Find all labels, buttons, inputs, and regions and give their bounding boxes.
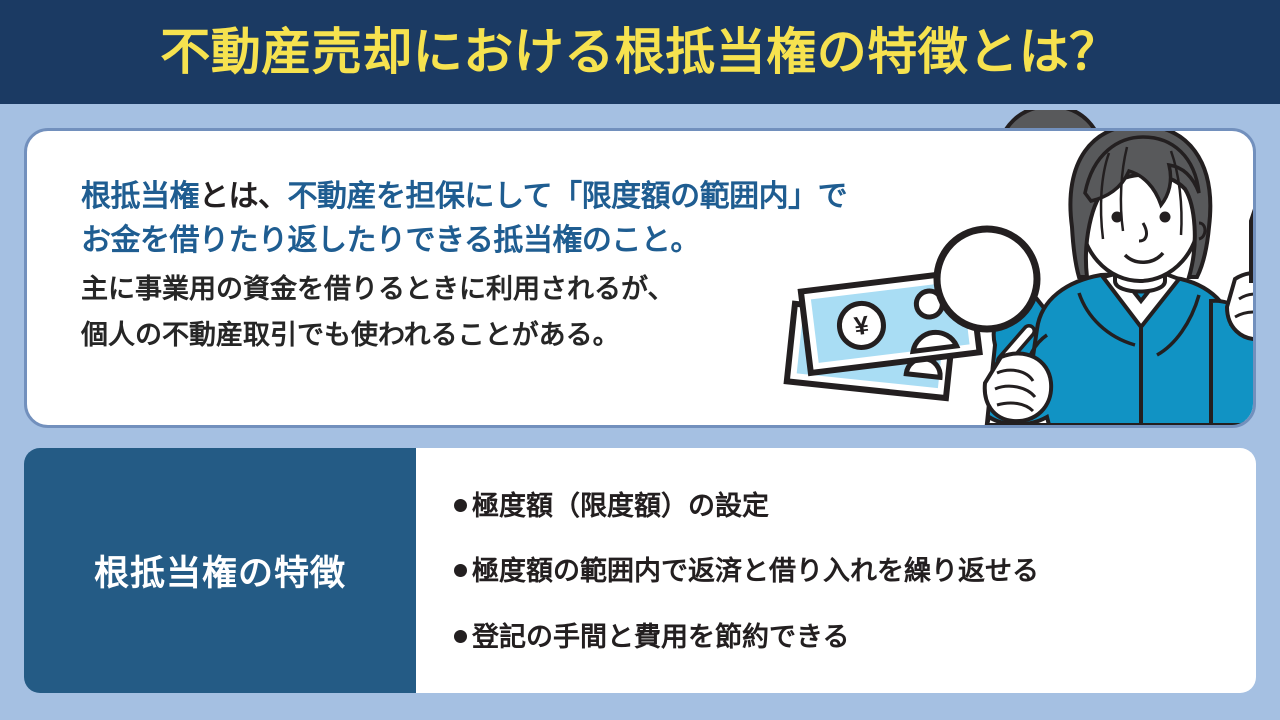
list-item-label: 極度額（限度額）の設定 bbox=[472, 490, 769, 522]
magnifier-icon bbox=[937, 229, 1037, 361]
features-list-panel: 極度額（限度額）の設定 極度額の範囲内で返済と借り入れを繰り返せる 登記の手間と… bbox=[416, 448, 1256, 693]
features-label-text: 根抵当権の特徴 bbox=[94, 545, 346, 596]
definition-term: 根抵当権 bbox=[81, 180, 199, 213]
header-bar: 不動産売却における根抵当権の特徴とは？ bbox=[0, 0, 1280, 104]
bullet-dot-icon bbox=[454, 499, 467, 512]
bullet-dot-icon bbox=[454, 564, 467, 577]
definition-line-1: 根抵当権とは、不動産を担保にして「限度額の範囲内」で bbox=[81, 175, 821, 219]
infographic-root: 不動産売却における根抵当権の特徴とは？ bbox=[0, 0, 1280, 720]
left-hand-icon bbox=[985, 353, 1051, 425]
list-item-label: 登記の手間と費用を節約できる bbox=[472, 621, 849, 653]
definition-card: ¥ bbox=[24, 128, 1256, 428]
svg-text:¥: ¥ bbox=[852, 310, 871, 342]
definition-line-3: 主に事業用の資金を借りるときに利用されるが、 bbox=[81, 270, 821, 309]
definition-connector: とは、 bbox=[199, 180, 288, 213]
page-title: 不動産売却における根抵当権の特徴とは？ bbox=[160, 27, 1120, 77]
right-arm-pointing-icon bbox=[1211, 204, 1253, 425]
definition-line-1-rest: 不動産を担保にして「限度額の範囲内」で bbox=[288, 180, 848, 213]
list-item-label: 極度額の範囲内で返済と借り入れを繰り返せる bbox=[472, 555, 1039, 587]
list-item: 極度額（限度額）の設定 bbox=[454, 490, 1256, 522]
definition-line-2: お金を借りたり返したりできる抵当権のこと。 bbox=[81, 219, 821, 263]
definition-text-block: 根抵当権とは、不動産を担保にして「限度額の範囲内」で お金を借りたり返したりでき… bbox=[81, 175, 821, 355]
features-label-panel: 根抵当権の特徴 bbox=[24, 448, 416, 693]
definition-line-4: 個人の不動産取引でも使われることがある。 bbox=[81, 316, 821, 355]
features-section: 根抵当権の特徴 極度額（限度額）の設定 極度額の範囲内で返済と借り入れを繰り返せ… bbox=[24, 448, 1256, 693]
bullet-dot-icon bbox=[454, 630, 467, 643]
woman-figure-icon bbox=[937, 131, 1253, 425]
list-item: 極度額の範囲内で返済と借り入れを繰り返せる bbox=[454, 555, 1256, 587]
list-item: 登記の手間と費用を節約できる bbox=[454, 621, 1256, 653]
